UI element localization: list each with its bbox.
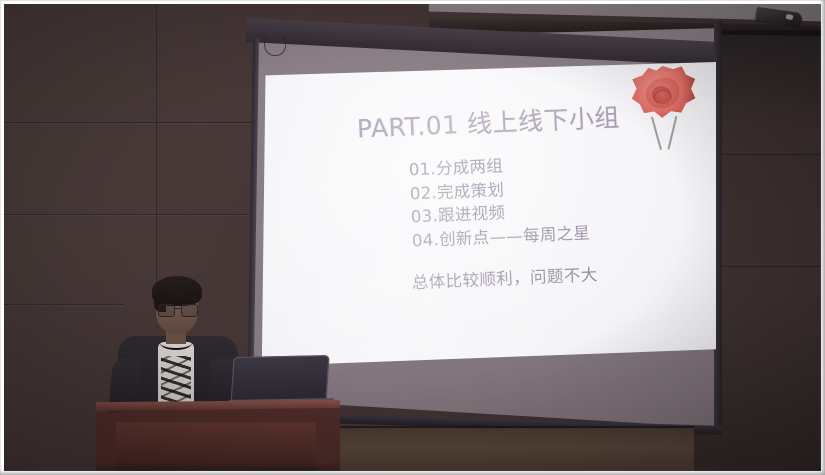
slide-agenda-list: 01.分成两组 02.完成策划 03.跟进视频 04.创新点——每周之星 [408, 150, 590, 252]
podium-shadow [96, 462, 340, 471]
slide-title: PART.01 线上线下小组 [356, 98, 620, 146]
rose-stem [651, 117, 662, 150]
rose-icon [622, 62, 708, 158]
lens-right [181, 304, 198, 317]
eyeglasses-icon [158, 304, 198, 315]
photograph: PART.01 线上线下小组 01.分成两组 02.完成策划 03.跟进视频 0… [4, 4, 821, 471]
rose-stem [668, 116, 677, 149]
presenter-hair [152, 276, 202, 306]
wall-seam [4, 122, 254, 123]
floor [324, 428, 694, 471]
wall-seam-vertical [156, 4, 157, 304]
slide-footnote: 总体比较顺利，问题不大 [411, 261, 598, 293]
laptop-screen [230, 355, 329, 403]
photo-frame: PART.01 线上线下小组 01.分成两组 02.完成策划 03.跟进视频 0… [0, 0, 825, 475]
wall-seam [4, 214, 250, 215]
presenter-and-podium [100, 266, 360, 471]
lens-left [158, 304, 175, 317]
